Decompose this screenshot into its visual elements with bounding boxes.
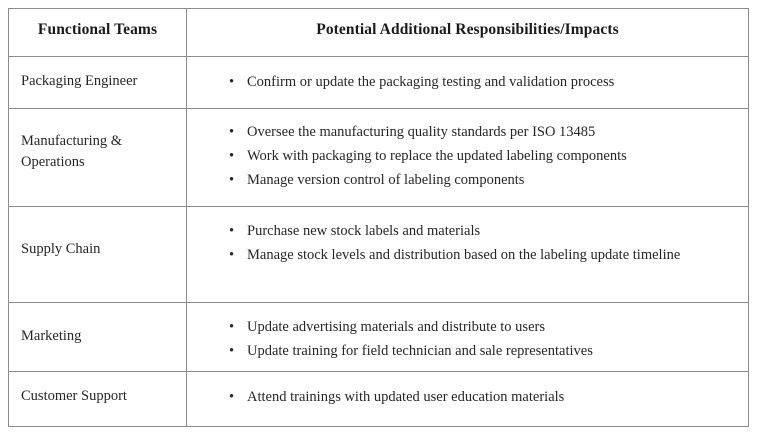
table-header: Functional Teams Potential Additional Re… (9, 9, 749, 57)
responsibilities-content: •Confirm or update the packaging testing… (187, 57, 748, 93)
functional-team-label: Marketing (9, 303, 186, 347)
bullet-icon: • (229, 71, 234, 93)
table-row: Packaging Engineer•Confirm or update the… (9, 57, 749, 109)
responsibility-text: Manage stock levels and distribution bas… (247, 247, 680, 263)
table-row: Manufacturing & Operations•Oversee the m… (9, 109, 749, 207)
column-header-functional-teams: Functional Teams (9, 9, 187, 57)
column-header-functional-teams-label: Functional Teams (9, 9, 186, 39)
responsibility-item: •Confirm or update the packaging testing… (229, 71, 738, 93)
table-row: Supply Chain•Purchase new stock labels a… (9, 207, 749, 303)
cell-responsibilities: •Update advertising materials and distri… (187, 303, 749, 372)
responsibility-item: •Update training for field technician an… (229, 340, 738, 362)
bullet-icon: • (229, 169, 234, 191)
responsibility-item: •Manage stock levels and distribution ba… (229, 244, 738, 266)
cell-functional-team: Packaging Engineer (9, 57, 187, 109)
responsibility-text: Oversee the manufacturing quality standa… (247, 124, 595, 140)
responsibility-list: •Oversee the manufacturing quality stand… (197, 121, 738, 191)
page-canvas: Functional Teams Potential Additional Re… (0, 0, 757, 441)
responsibility-text: Attend trainings with updated user educa… (247, 389, 564, 405)
cell-functional-team: Supply Chain (9, 207, 187, 303)
responsibility-list: •Update advertising materials and distri… (197, 316, 738, 362)
functional-team-label: Packaging Engineer (9, 57, 186, 92)
table-row: Customer Support•Attend trainings with u… (9, 372, 749, 427)
table-header-row: Functional Teams Potential Additional Re… (9, 9, 749, 57)
responsibilities-content: •Update advertising materials and distri… (187, 303, 748, 362)
responsibility-list: •Attend trainings with updated user educ… (197, 386, 738, 408)
responsibility-list: •Confirm or update the packaging testing… (197, 71, 738, 93)
responsibility-text: Work with packaging to replace the updat… (247, 148, 627, 164)
bullet-icon: • (229, 386, 234, 408)
table-body: Packaging Engineer•Confirm or update the… (9, 57, 749, 427)
bullet-icon: • (229, 145, 234, 167)
responsibility-text: Confirm or update the packaging testing … (247, 74, 614, 90)
responsibilities-content: •Attend trainings with updated user educ… (187, 372, 748, 408)
cell-responsibilities: •Attend trainings with updated user educ… (187, 372, 749, 427)
responsibility-item: •Update advertising materials and distri… (229, 316, 738, 338)
bullet-icon: • (229, 316, 234, 338)
responsibility-item: •Oversee the manufacturing quality stand… (229, 121, 738, 143)
responsibility-list: •Purchase new stock labels and materials… (197, 220, 738, 266)
bullet-icon: • (229, 244, 234, 266)
responsibilities-content: •Oversee the manufacturing quality stand… (187, 109, 748, 191)
responsibilities-table: Functional Teams Potential Additional Re… (8, 8, 749, 427)
cell-responsibilities: •Oversee the manufacturing quality stand… (187, 109, 749, 207)
cell-functional-team: Marketing (9, 303, 187, 372)
bullet-icon: • (229, 340, 234, 362)
column-header-responsibilities: Potential Additional Responsibilities/Im… (187, 9, 749, 57)
cell-functional-team: Customer Support (9, 372, 187, 427)
functional-team-label: Manufacturing & Operations (9, 109, 186, 173)
responsibility-text: Purchase new stock labels and materials (247, 223, 480, 239)
cell-functional-team: Manufacturing & Operations (9, 109, 187, 207)
responsibility-text: Update advertising materials and distrib… (247, 319, 545, 335)
responsibility-item: •Work with packaging to replace the upda… (229, 145, 738, 167)
column-header-responsibilities-label: Potential Additional Responsibilities/Im… (187, 9, 748, 39)
responsibilities-content: •Purchase new stock labels and materials… (187, 207, 748, 266)
cell-responsibilities: •Confirm or update the packaging testing… (187, 57, 749, 109)
responsibility-text: Update training for field technician and… (247, 343, 593, 359)
cell-responsibilities: •Purchase new stock labels and materials… (187, 207, 749, 303)
responsibility-item: •Attend trainings with updated user educ… (229, 386, 738, 408)
responsibility-item: •Purchase new stock labels and materials (229, 220, 738, 242)
functional-team-label: Supply Chain (9, 207, 186, 260)
table-row: Marketing•Update advertising materials a… (9, 303, 749, 372)
bullet-icon: • (229, 220, 234, 242)
bullet-icon: • (229, 121, 234, 143)
responsibility-text: Manage version control of labeling compo… (247, 172, 524, 188)
functional-team-label: Customer Support (9, 372, 186, 407)
responsibility-item: •Manage version control of labeling comp… (229, 169, 738, 191)
